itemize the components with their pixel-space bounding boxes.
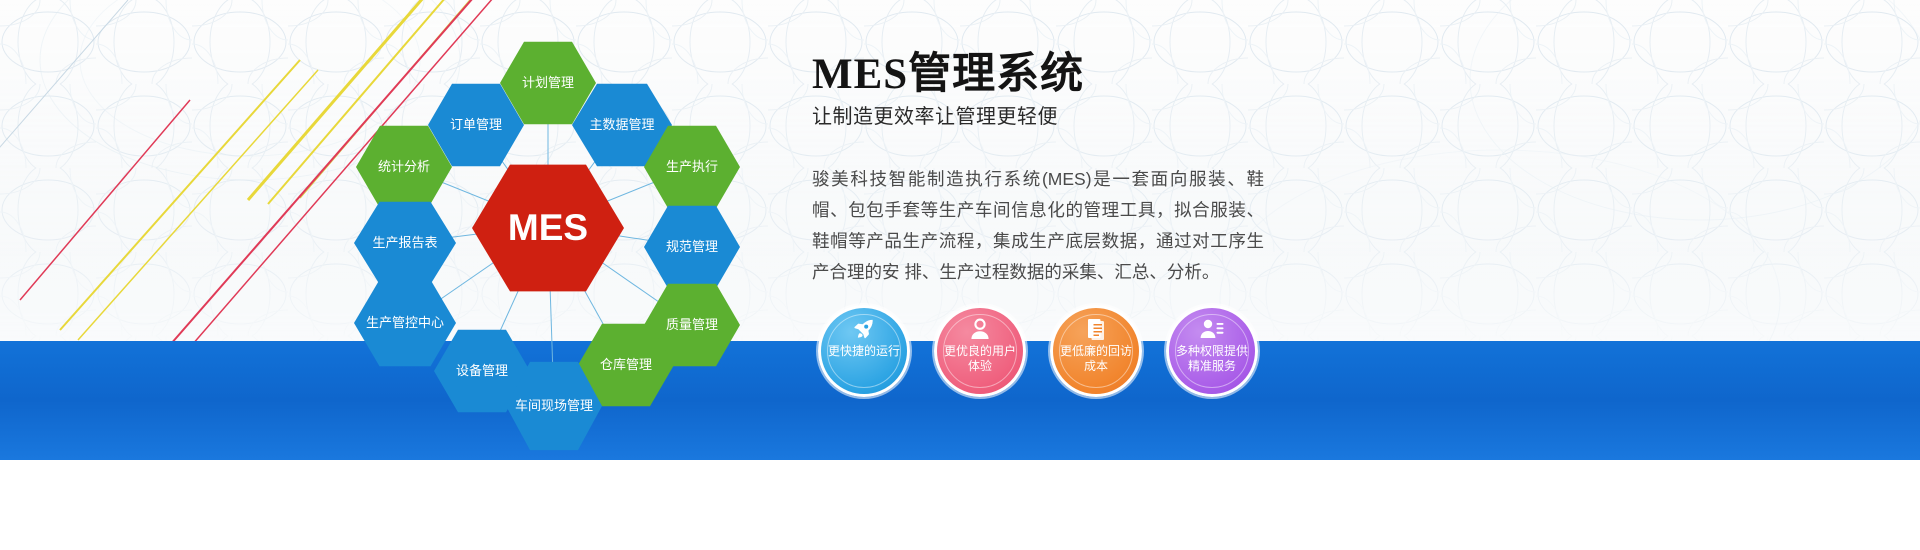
diagram-node-label: 车间现场管理: [515, 398, 593, 414]
background-bottom-white: [0, 460, 1920, 550]
document-icon: [1083, 316, 1109, 342]
rocket-icon: [851, 316, 877, 342]
diagram-node-label: 质量管理: [666, 317, 718, 333]
title-divider: [812, 145, 1272, 146]
diagram-node-label: 生产执行: [666, 159, 718, 175]
banner-text-column: MES管理系统 让制造更效率让管理更轻便 骏美科技智能制造执行系统(MES)是一…: [812, 52, 1282, 288]
feature-badge-label: 更快捷的运行: [821, 342, 907, 359]
diagram-node-label: 生产管控中心: [366, 315, 444, 331]
diagram-node-label: 设备管理: [456, 363, 508, 379]
diagram-node-label: 统计分析: [378, 159, 430, 175]
diagram-node-label: 规范管理: [666, 239, 718, 255]
feature-badge-label: 多种权限提供精准服务: [1169, 342, 1255, 374]
banner-stage: MES 计划管理 订单管理 主数据管理 统计分析 生产执行 生产报告表 规范管理…: [0, 0, 1920, 550]
user-icon: [967, 316, 993, 342]
diagram-node-label: 主数据管理: [589, 117, 654, 133]
diagram-node-label: 订单管理: [450, 117, 502, 133]
feature-badge-list: 更快捷的运行 更优良的用户体验: [818, 305, 1288, 410]
mes-hexagon-diagram: MES 计划管理 订单管理 主数据管理 统计分析 生产执行 生产报告表 规范管理…: [330, 20, 770, 440]
people-icon: [1199, 316, 1225, 342]
diagram-node-label: 仓库管理: [600, 357, 652, 373]
banner-subtitle: 让制造更效率让管理更轻便: [812, 105, 1282, 129]
diagram-node-label: 生产报告表: [372, 235, 437, 251]
diagram-center-label: MES: [508, 205, 588, 251]
diagram-node-label: 计划管理: [522, 75, 574, 91]
feature-badge-permissions[interactable]: 多种权限提供精准服务: [1166, 305, 1258, 397]
feature-badge-cost[interactable]: 更低廉的回访成本: [1050, 305, 1142, 397]
feature-badge-label: 更优良的用户体验: [937, 342, 1023, 374]
banner-title: MES管理系统: [812, 52, 1282, 97]
feature-badge-experience[interactable]: 更优良的用户体验: [934, 305, 1026, 397]
feature-badge-label: 更低廉的回访成本: [1053, 342, 1139, 374]
banner-paragraph: 骏美科技智能制造执行系统(MES)是一套面向服装、鞋帽、包包手套等生产车间信息化…: [812, 164, 1264, 288]
feature-badge-fast[interactable]: 更快捷的运行: [818, 305, 910, 397]
